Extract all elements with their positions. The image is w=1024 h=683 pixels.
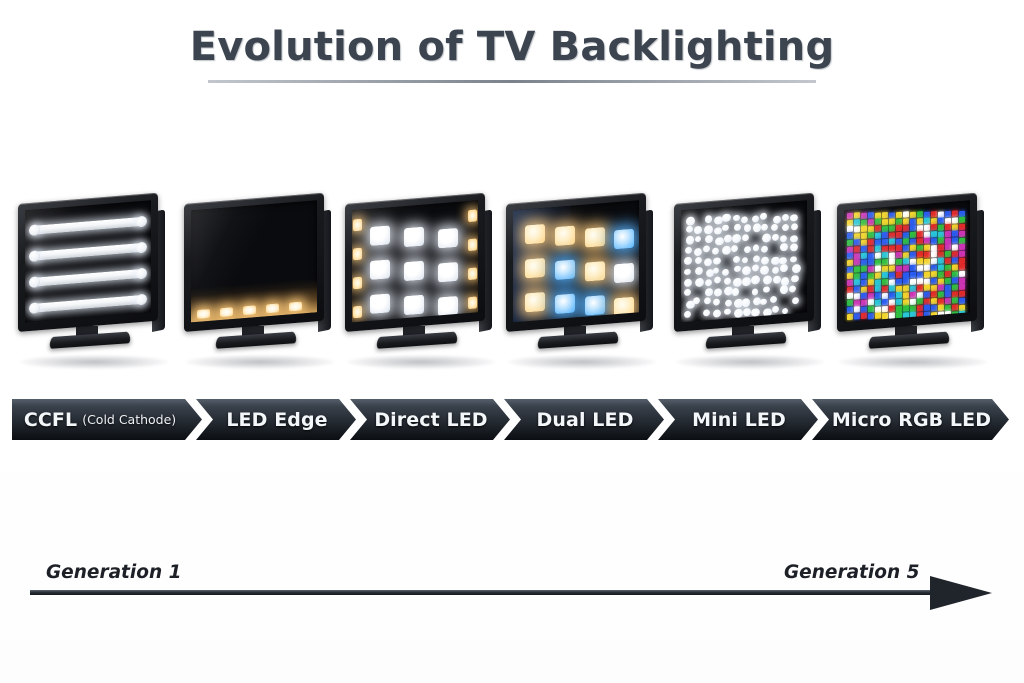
chevron-label: LED Edge [226,409,327,431]
micro-rgb-cell [889,225,895,231]
micro-rgb-cell [945,211,951,217]
generation-timeline: Generation 1 Generation 5 [0,548,1024,618]
chevron-stage-micro-rgb-led[interactable]: Micro RGB LED [812,399,1009,440]
micro-rgb-cell [945,258,951,264]
micro-rgb-cell [945,298,951,304]
tv-illustration-ccfl [14,200,174,375]
micro-rgb-cell [959,311,965,317]
micro-rgb-cell [917,265,923,271]
micro-rgb-cell [875,293,881,299]
tv-illustration-dual-led [502,200,662,375]
micro-rgb-cell [917,211,923,217]
micro-rgb-cell [847,286,853,292]
micro-rgb-cell [952,298,958,304]
tv-illustration-led-edge [180,200,340,375]
micro-rgb-cell [868,219,874,225]
micro-rgb-cell [903,259,909,265]
mini-led-dot [791,223,798,231]
micro-rgb-cell [945,311,951,317]
micro-rgb-cell [896,232,902,238]
micro-rgb-cell [910,238,916,244]
micro-rgb-cell [854,280,860,286]
micro-rgb-cell [861,266,867,272]
micro-rgb-cell [896,292,902,298]
micro-rgb-cell [938,211,944,217]
tv-illustration-mini-led [670,200,830,375]
micro-rgb-cell [917,231,923,237]
tv-screen-ccfl [25,200,151,322]
tv-screen-dual-led [513,200,639,322]
micro-rgb-cell [882,232,888,238]
micro-rgb-cell [861,219,867,225]
micro-rgb-cell [889,312,895,318]
micro-rgb-cell [952,304,958,310]
micro-rgb-cell [959,230,965,236]
micro-rgb-cell [959,251,965,257]
micro-rgb-cell [875,272,881,278]
micro-rgb-cell [931,298,937,304]
micro-rgb-cell [931,218,937,224]
tv-screen-mini-led [681,200,807,322]
micro-rgb-cell [889,212,895,218]
micro-rgb-cell [910,258,916,264]
micro-rgb-cell [868,212,874,218]
tv-stand-base [705,332,787,349]
micro-rgb-cell [938,244,944,250]
micro-rgb-cell [910,245,916,251]
tv-stand-base [537,332,619,349]
micro-rgb-cell [889,292,895,298]
micro-rgb-cell [924,258,930,264]
stage-chevron-band: CCFL (Cold Cathode) LED Edge Direct LED … [12,399,1009,440]
tv-shadow [676,355,824,369]
micro-rgb-cell [854,239,860,245]
infographic-canvas: Evolution of TV Backlighting [0,0,1024,683]
chevron-stage-direct-led[interactable]: Direct LED [350,399,510,440]
micro-rgb-cell [875,212,881,218]
micro-rgb-cell [903,225,909,231]
micro-rgb-cell [910,292,916,298]
mini-led-dot [751,275,760,284]
micro-rgb-cell [952,291,958,297]
micro-rgb-cell [854,286,860,292]
micro-rgb-cell [910,305,916,311]
micro-rgb-cell [861,253,867,259]
micro-rgb-cell [861,239,867,245]
chevron-stage-dual-led[interactable]: Dual LED [504,399,664,440]
chevron-stage-mini-led[interactable]: Mini LED [658,399,818,440]
micro-rgb-cell [931,265,937,271]
micro-rgb-cell [917,292,923,298]
micro-rgb-cell [917,245,923,251]
micro-rgb-cell [896,245,902,251]
micro-rgb-cell [861,246,867,252]
micro-rgb-cell [847,240,853,246]
micro-rgb-cell [875,286,881,292]
micro-rgb-cell [889,232,895,238]
tv-bezel [345,193,485,332]
mini-led-dot [790,243,798,252]
micro-rgb-cell [931,238,937,244]
micro-rgb-cell [959,224,965,230]
micro-rgb-cell [931,278,937,284]
micro-rgb-cell [931,224,937,230]
micro-rgb-cell [861,279,867,285]
micro-rgb-cell [903,212,909,218]
mini-led-dot [761,245,768,253]
micro-rgb-cell [959,291,965,297]
micro-rgb-cell [896,225,902,231]
micro-rgb-cell [868,232,874,238]
micro-rgb-cell [917,312,923,318]
micro-rgb-cell [952,244,958,250]
mini-led-dot [792,264,801,274]
micro-rgb-cell [938,278,944,284]
micro-rgb-cell [889,259,895,265]
tv-shadow [508,355,656,369]
micro-rgb-cell [931,211,937,217]
tv-illustration-direct-led [341,200,501,375]
micro-rgb-cell [882,299,888,305]
micro-rgb-cell [903,232,909,238]
micro-rgb-cell [931,244,937,250]
micro-rgb-cell [910,299,916,305]
micro-rgb-cell [889,265,895,271]
micro-rgb-cell [952,237,958,243]
micro-rgb-cell [854,213,860,219]
micro-rgb-cell [917,305,923,311]
micro-rgb-cell [910,312,916,318]
micro-rgb-cell [931,251,937,257]
micro-rgb-cell [903,312,909,318]
micro-rgb-cell [847,233,853,239]
page-title: Evolution of TV Backlighting [0,24,1024,70]
micro-rgb-cell [854,306,860,312]
chevron-stage-ccfl[interactable]: CCFL (Cold Cathode) [12,399,202,440]
micro-rgb-cell [882,266,888,272]
micro-rgb-cell [861,293,867,299]
micro-rgb-cell [868,313,874,319]
micro-rgb-cell [959,257,965,263]
generation-start-label: Generation 1 [46,562,181,583]
micro-rgb-cell [868,253,874,259]
micro-rgb-cell [854,300,860,306]
micro-rgb-cell [959,210,965,216]
micro-rgb-cell [910,272,916,278]
micro-rgb-cell [854,233,860,239]
mini-led-dot [703,309,710,317]
micro-rgb-cell [903,238,909,244]
micro-rgb-cell [847,280,853,286]
micro-rgb-cell [924,278,930,284]
chevron-label: Direct LED [374,409,487,431]
tv-bezel [674,193,814,332]
tv-illustration-micro-rgb-led [833,200,993,375]
mini-led-dot [753,223,761,232]
micro-rgb-cell [896,279,902,285]
micro-rgb-cell [861,232,867,238]
micro-rgb-cell [903,252,909,258]
mini-led-dot [705,288,712,296]
chevron-label: Dual LED [537,409,634,431]
micro-rgb-cell [875,313,881,319]
micro-rgb-cell [938,238,944,244]
micro-rgb-cell [854,219,860,225]
tv-screen-direct-led [352,200,478,322]
micro-rgb-cell [889,272,895,278]
tv-stand-base [49,332,131,349]
micro-rgb-cell [924,271,930,277]
micro-rgb-cell [959,217,965,223]
micro-rgb-cell [896,305,902,311]
tv-shadow [839,355,987,369]
micro-rgb-cell [875,279,881,285]
micro-rgb-cell [861,299,867,305]
micro-rgb-cell [938,285,944,291]
micro-rgb-cell [868,293,874,299]
micro-rgb-cell [945,224,951,230]
tv-bezel [506,193,646,332]
micro-rgb-cell [917,298,923,304]
micro-rgb-cell [875,246,881,252]
micro-rgb-cell [917,272,923,278]
micro-rgb-cell [882,245,888,251]
tv-bezel [837,193,977,332]
micro-rgb-cell [896,285,902,291]
micro-rgb-cell [861,273,867,279]
micro-rgb-cell [882,252,888,258]
micro-rgb-cell [938,271,944,277]
micro-rgb-cell [952,284,958,290]
micro-rgb-cell [868,273,874,279]
micro-rgb-cell [861,259,867,265]
micro-rgb-cell [952,231,958,237]
micro-rgb-cell [882,279,888,285]
micro-rgb-cell [903,279,909,285]
title-divider [208,80,816,83]
micro-rgb-cell [917,251,923,257]
micro-rgb-cell [854,293,860,299]
micro-rgb-cell [889,286,895,292]
micro-rgb-cell [931,258,937,264]
micro-rgb-cell [952,257,958,263]
micro-rgb-cell [959,244,965,250]
micro-rgb-cell [924,292,930,298]
micro-rgb-cell [868,246,874,252]
micro-rgb-cell [903,265,909,271]
micro-rgb-cell [952,217,958,223]
micro-rgb-cell [847,266,853,272]
title-block: Evolution of TV Backlighting [0,24,1024,83]
micro-rgb-cell [924,251,930,257]
micro-rgb-cell [875,252,881,258]
micro-rgb-cell [924,285,930,291]
micro-rgb-cell [931,291,937,297]
micro-rgb-cell [882,239,888,245]
micro-rgb-cell [938,264,944,270]
arrow-right-icon [930,576,992,610]
micro-rgb-cell [952,278,958,284]
mini-led-dot [694,226,701,234]
micro-rgb-cell [903,305,909,311]
micro-rgb-cell [903,285,909,291]
micro-rgb-cell [896,259,902,265]
micro-rgb-cell [896,299,902,305]
micro-rgb-cell [868,306,874,312]
tv-screen-micro-rgb-led [844,200,970,322]
micro-rgb-cell [896,238,902,244]
micro-rgb-cell [910,218,916,224]
micro-rgb-cell [847,246,853,252]
micro-rgb-cell [861,212,867,218]
micro-rgb-cell [854,259,860,265]
micro-rgb-cell [854,313,860,319]
micro-rgb-cell [889,279,895,285]
micro-rgb-cell [868,299,874,305]
generation-end-label: Generation 5 [784,562,919,583]
tv-shadow [186,355,334,369]
micro-rgb-cell [917,225,923,231]
micro-rgb-cell [910,211,916,217]
tv-stand-base [376,332,458,349]
micro-rgb-cell [903,272,909,278]
micro-rgb-cell [924,305,930,311]
micro-rgb-cell [959,277,965,283]
micro-rgb-cell [882,272,888,278]
micro-rgb-matrix [844,200,970,210]
micro-rgb-cell [952,264,958,270]
micro-rgb-cell [917,238,923,244]
mini-led-dot [782,223,789,230]
micro-rgb-cell [896,312,902,318]
micro-rgb-cell [938,305,944,311]
micro-rgb-cell [952,271,958,277]
micro-rgb-cell [882,259,888,265]
mini-led-dot [780,243,788,251]
micro-rgb-cell [945,278,951,284]
micro-rgb-cell [882,312,888,318]
tv-screen-led-edge [191,200,317,322]
micro-rgb-cell [959,284,965,290]
micro-rgb-cell [945,271,951,277]
micro-rgb-cell [896,252,902,258]
micro-rgb-cell [861,226,867,232]
micro-rgb-cell [938,311,944,317]
micro-rgb-cell [938,251,944,257]
micro-rgb-cell [847,213,853,219]
tv-bezel [18,193,158,332]
micro-rgb-cell [917,278,923,284]
micro-rgb-cell [931,305,937,311]
micro-rgb-cell [875,226,881,232]
micro-rgb-cell [952,311,958,317]
tv-bezel [184,193,324,332]
micro-rgb-cell [945,238,951,244]
micro-rgb-cell [847,253,853,259]
micro-rgb-cell [924,231,930,237]
micro-rgb-cell [875,232,881,238]
timeline-axis-line [30,590,950,595]
chevron-stage-led-edge[interactable]: LED Edge [196,399,356,440]
micro-rgb-cell [868,239,874,245]
mini-led-dot [724,278,731,285]
micro-rgb-cell [924,238,930,244]
micro-rgb-cell [917,218,923,224]
micro-rgb-cell [938,218,944,224]
tv-stand-base [215,332,297,349]
micro-rgb-cell [931,231,937,237]
micro-rgb-cell [924,298,930,304]
micro-rgb-cell [854,266,860,272]
micro-rgb-cell [945,264,951,270]
micro-rgb-cell [910,252,916,258]
micro-rgb-cell [847,313,853,319]
micro-rgb-cell [903,292,909,298]
micro-rgb-cell [868,286,874,292]
micro-rgb-cell [931,271,937,277]
mini-led-dot [763,308,771,317]
micro-rgb-cell [938,231,944,237]
micro-rgb-cell [938,298,944,304]
micro-rgb-cell [882,292,888,298]
micro-rgb-cell [847,273,853,279]
micro-rgb-cell [959,297,965,303]
micro-rgb-cell [875,299,881,305]
micro-rgb-cell [959,304,965,310]
micro-rgb-cell [889,245,895,251]
chevron-sublabel: (Cold Cathode) [82,412,176,427]
micro-rgb-cell [847,300,853,306]
micro-rgb-cell [882,286,888,292]
micro-rgb-cell [903,299,909,305]
micro-rgb-cell [875,306,881,312]
mini-led-dot [771,256,779,265]
micro-rgb-cell [959,264,965,270]
micro-rgb-cell [868,266,874,272]
tv-shadow [20,355,168,369]
micro-rgb-cell [882,306,888,312]
micro-rgb-cell [924,265,930,271]
micro-rgb-cell [931,311,937,317]
micro-rgb-cell [861,313,867,319]
micro-rgb-cell [959,271,965,277]
micro-rgb-cell [952,211,958,217]
micro-rgb-cell [889,306,895,312]
micro-rgb-cell [952,224,958,230]
chevron-label: Mini LED [692,409,786,431]
micro-rgb-cell [924,225,930,231]
micro-rgb-cell [889,219,895,225]
micro-rgb-cell [938,258,944,264]
micro-rgb-cell [959,237,965,243]
micro-rgb-cell [924,245,930,251]
tv-illustration-row [0,200,1024,375]
micro-rgb-cell [938,291,944,297]
micro-rgb-cell [945,244,951,250]
micro-rgb-cell [945,231,951,237]
micro-rgb-cell [917,285,923,291]
micro-rgb-cell [889,239,895,245]
micro-rgb-cell [868,279,874,285]
micro-rgb-cell [910,265,916,271]
micro-rgb-cell [924,211,930,217]
micro-rgb-cell [945,305,951,311]
micro-rgb-cell [903,218,909,224]
micro-rgb-cell [924,218,930,224]
micro-rgb-cell [861,286,867,292]
micro-rgb-cell [854,273,860,279]
micro-rgb-cell [938,224,944,230]
